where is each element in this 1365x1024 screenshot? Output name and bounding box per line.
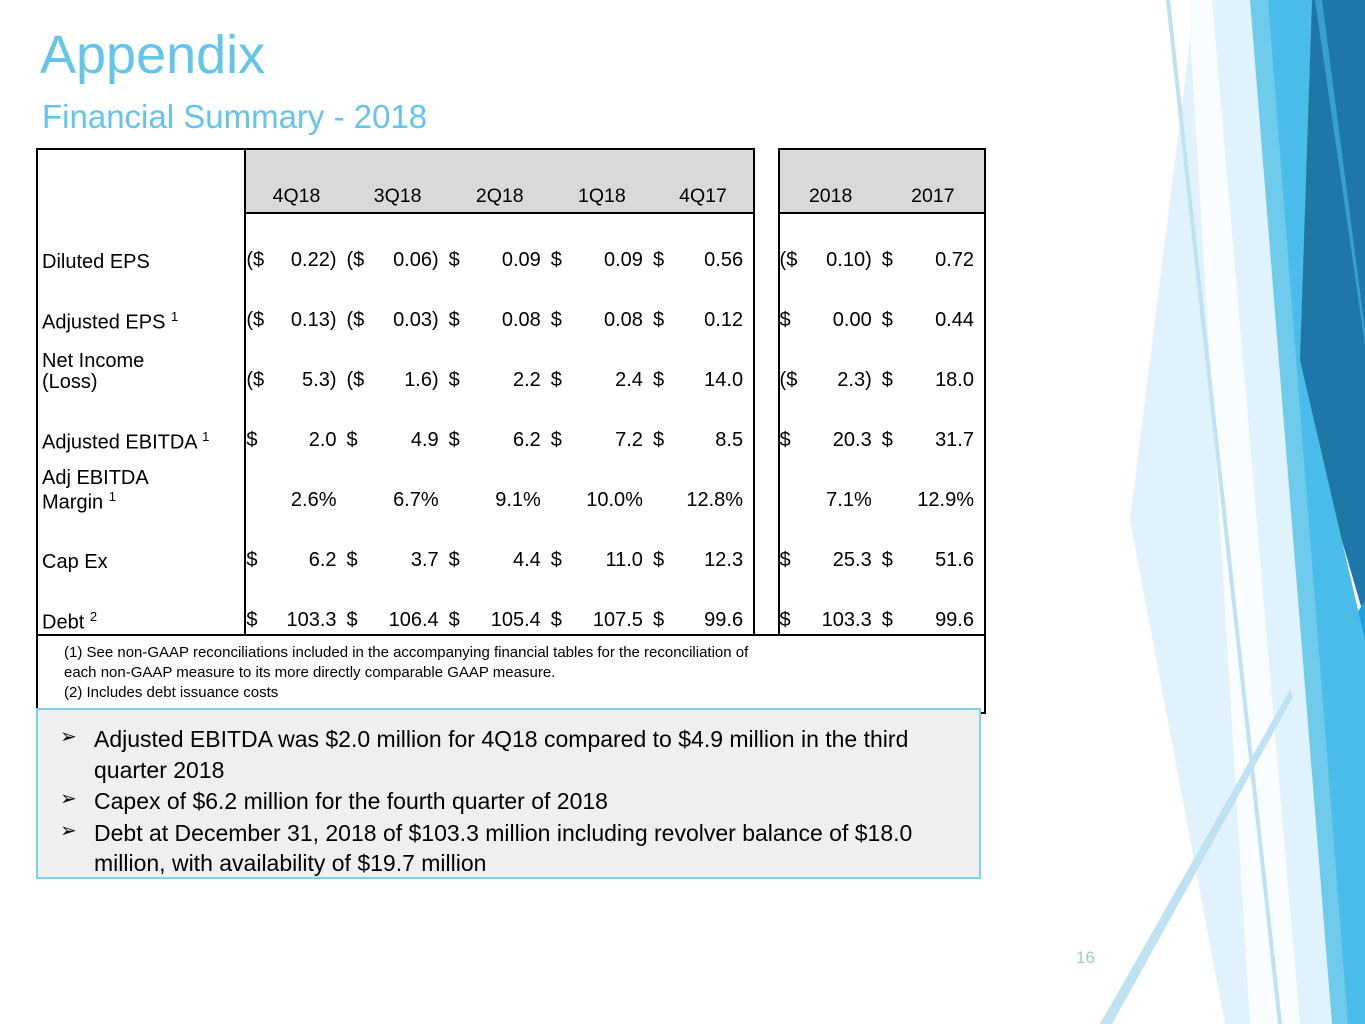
table-cell-year: $99.6 (882, 574, 986, 634)
table-cell-quarter: $2.4 (551, 334, 653, 394)
table-cell-quarter: $0.56 (653, 214, 755, 274)
table-cell-quarter: ($0.13) (244, 274, 346, 334)
table-cell-quarter: $0.09 (449, 214, 551, 274)
row-label: Adjusted EPS 1 (36, 274, 244, 334)
table-cell-year: 7.1% (778, 454, 882, 514)
table-cell-quarter: 9.1% (449, 454, 551, 514)
table-cell-year: $0.72 (882, 214, 986, 274)
financial-summary-table: 4Q18 3Q18 2Q18 1Q18 4Q17 2018 2017 Dilut… (36, 148, 986, 714)
column-header-3q18: 3Q18 (347, 148, 449, 214)
table-cell-quarter: $8.5 (653, 394, 755, 454)
page-title: Appendix (40, 28, 265, 82)
row-label: Adjusted EBITDA 1 (36, 394, 244, 454)
table-cell-year: $0.44 (882, 274, 986, 334)
table-cell-quarter: $6.2 (449, 394, 551, 454)
table-cell-quarter: $0.08 (551, 274, 653, 334)
table-cell-quarter: 10.0% (551, 454, 653, 514)
table-row: Net Income(Loss)($5.3)($1.6)$2.2$2.4$14.… (36, 334, 986, 394)
table-cell-year: $31.7 (882, 394, 986, 454)
arrow-bullet-icon: ➢ (50, 724, 94, 751)
table-cell-quarter: $0.08 (449, 274, 551, 334)
table-cell-quarter: $11.0 (551, 514, 653, 574)
table-cell-quarter: $7.2 (551, 394, 653, 454)
table-gap-spacer (755, 514, 777, 574)
page-number: 16 (1076, 948, 1095, 968)
table-cell-quarter: ($0.03) (347, 274, 449, 334)
column-header-4q17: 4Q17 (653, 148, 755, 214)
table-row: Diluted EPS($0.22)($0.06)$0.09$0.09$0.56… (36, 214, 986, 274)
table-header: 4Q18 3Q18 2Q18 1Q18 4Q17 2018 2017 (36, 148, 986, 214)
table-cell-quarter: 12.8% (653, 454, 755, 514)
callout-bullet: ➢Adjusted EBITDA was $2.0 million for 4Q… (50, 724, 959, 785)
column-header-2q18: 2Q18 (449, 148, 551, 214)
table-body: Diluted EPS($0.22)($0.06)$0.09$0.09$0.56… (36, 214, 986, 634)
table-cell-quarter: $14.0 (653, 334, 755, 394)
table-cell-quarter: ($1.6) (347, 334, 449, 394)
table-footnotes: (1) See non-GAAP reconciliations include… (36, 634, 986, 714)
table-cell-year: $0.00 (778, 274, 882, 334)
row-label: Net Income(Loss) (36, 334, 244, 394)
table-cell-quarter: ($0.22) (244, 214, 346, 274)
table-row: Cap Ex$6.2$3.7$4.4$11.0$12.3$25.3$51.6 (36, 514, 986, 574)
column-header-2017: 2017 (882, 148, 986, 214)
table-cell-quarter: $107.5 (551, 574, 653, 634)
table-cell-quarter: $3.7 (347, 514, 449, 574)
table-cell-year: ($2.3) (778, 334, 882, 394)
callout-bullet-text: Capex of $6.2 million for the fourth qua… (94, 786, 959, 817)
table-cell-year: $20.3 (778, 394, 882, 454)
table-cell-quarter: $12.3 (653, 514, 755, 574)
table-gap-spacer (755, 454, 777, 514)
row-label: Diluted EPS (36, 214, 244, 274)
row-label: Adj EBITDAMargin 1 (36, 454, 244, 514)
callout-bullet: ➢Capex of $6.2 million for the fourth qu… (50, 786, 959, 817)
table-cell-quarter: $106.4 (347, 574, 449, 634)
table-row: Adjusted EPS 1($0.13)($0.03)$0.08$0.08$0… (36, 274, 986, 334)
footnote-line-1: (1) See non-GAAP reconciliations include… (64, 643, 984, 663)
table-gap-spacer (755, 334, 777, 394)
footnotes-cell: (1) See non-GAAP reconciliations include… (36, 634, 986, 714)
table-cell-quarter: $103.3 (244, 574, 346, 634)
row-label: Debt 2 (36, 574, 244, 634)
callout-bullet: ➢Debt at December 31, 2018 of $103.3 mil… (50, 818, 959, 879)
callout-bullet-text: Adjusted EBITDA was $2.0 million for 4Q1… (94, 724, 959, 785)
table-cell-quarter: $0.09 (551, 214, 653, 274)
column-header-2018: 2018 (778, 148, 882, 214)
table-cell-year: 12.9% (882, 454, 986, 514)
table-cell-quarter: ($0.06) (347, 214, 449, 274)
table-gap-spacer (755, 274, 777, 334)
table-gap-spacer (755, 214, 777, 274)
highlights-callout-box: ➢Adjusted EBITDA was $2.0 million for 4Q… (36, 708, 981, 879)
arrow-bullet-icon: ➢ (50, 818, 94, 845)
table-cell-quarter: $105.4 (449, 574, 551, 634)
table-cell-year: $25.3 (778, 514, 882, 574)
column-header-4q18: 4Q18 (244, 148, 346, 214)
column-header-1q18: 1Q18 (551, 148, 653, 214)
table-cell-quarter: $2.0 (244, 394, 346, 454)
table-row: Adj EBITDAMargin 12.6%6.7%9.1%10.0%12.8%… (36, 454, 986, 514)
footnote-line-3: (2) Includes debt issuance costs (64, 683, 984, 703)
table-cell-quarter: ($5.3) (244, 334, 346, 394)
arrow-bullet-icon: ➢ (50, 786, 94, 813)
table-cell-quarter: $0.12 (653, 274, 755, 334)
table-cell-year: ($0.10) (778, 214, 882, 274)
table-row: Adjusted EBITDA 1$2.0$4.9$6.2$7.2$8.5$20… (36, 394, 986, 454)
table-cell-year: $18.0 (882, 334, 986, 394)
financial-summary-table-container: 4Q18 3Q18 2Q18 1Q18 4Q17 2018 2017 Dilut… (36, 148, 986, 714)
table-cell-quarter: 2.6% (244, 454, 346, 514)
table-cell-quarter: $6.2 (244, 514, 346, 574)
decorative-corner-graphic (1100, 0, 1365, 1024)
page-subtitle: Financial Summary - 2018 (42, 100, 427, 133)
table-cell-quarter: 6.7% (347, 454, 449, 514)
header-gap-spacer (755, 148, 777, 214)
footnote-line-2: each non-GAAP measure to its more direct… (64, 663, 984, 683)
header-row: 4Q18 3Q18 2Q18 1Q18 4Q17 2018 2017 (36, 148, 986, 214)
table-cell-quarter: $99.6 (653, 574, 755, 634)
table-gap-spacer (755, 394, 777, 454)
table-gap-spacer (755, 574, 777, 634)
table-cell-year: $103.3 (778, 574, 882, 634)
header-corner-blank (36, 148, 244, 214)
callout-bullet-text: Debt at December 31, 2018 of $103.3 mill… (94, 818, 959, 879)
table-cell-year: $51.6 (882, 514, 986, 574)
table-cell-quarter: $4.4 (449, 514, 551, 574)
table-cell-quarter: $2.2 (449, 334, 551, 394)
row-label: Cap Ex (36, 514, 244, 574)
table-row: Debt 2$103.3$106.4$105.4$107.5$99.6$103.… (36, 574, 986, 634)
table-cell-quarter: $4.9 (347, 394, 449, 454)
